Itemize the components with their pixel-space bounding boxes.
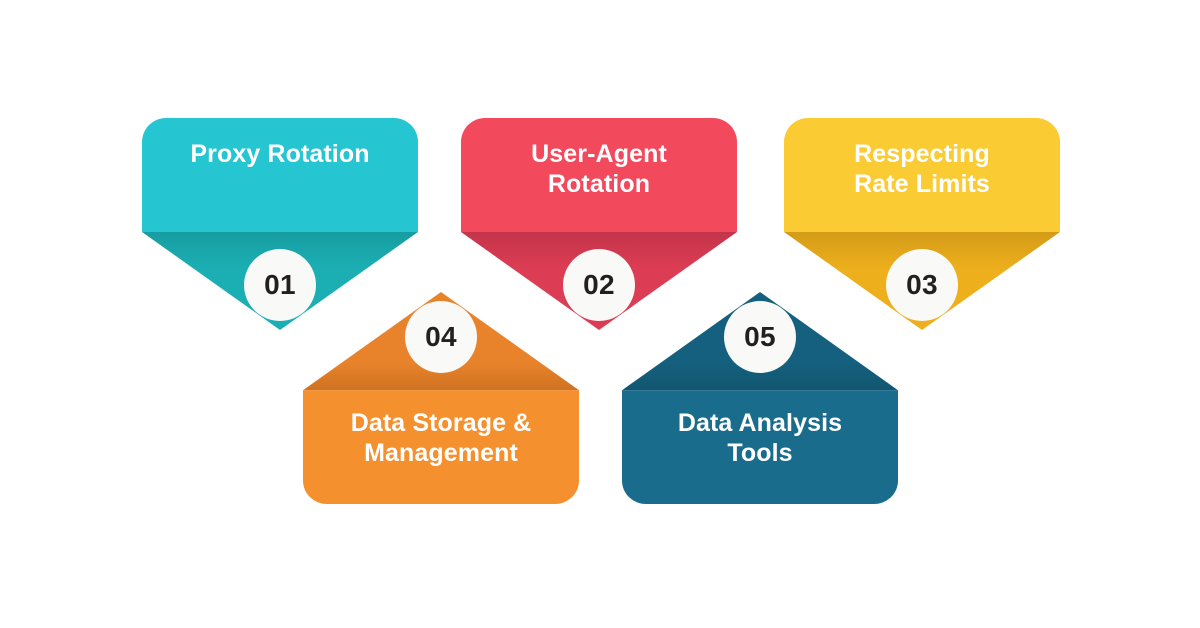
card-02-label: User-Agent Rotation <box>461 140 737 199</box>
infographic-card-05[interactable]: Data Analysis Tools 05 <box>622 292 898 504</box>
card-03-label: Respecting Rate Limits <box>784 140 1060 199</box>
infographic-canvas: Proxy Rotation 01 User-Agent Rotation 02 <box>0 0 1200 628</box>
card-01-label: Proxy Rotation <box>142 140 418 170</box>
card-05-label: Data Analysis Tools <box>622 409 898 468</box>
card-04-number-badge: 04 <box>405 301 477 373</box>
card-01-body <box>142 118 418 232</box>
infographic-card-04[interactable]: Data Storage & Management 04 <box>303 292 579 504</box>
card-05-number-badge: 05 <box>724 301 796 373</box>
card-04-label: Data Storage & Management <box>303 409 579 468</box>
